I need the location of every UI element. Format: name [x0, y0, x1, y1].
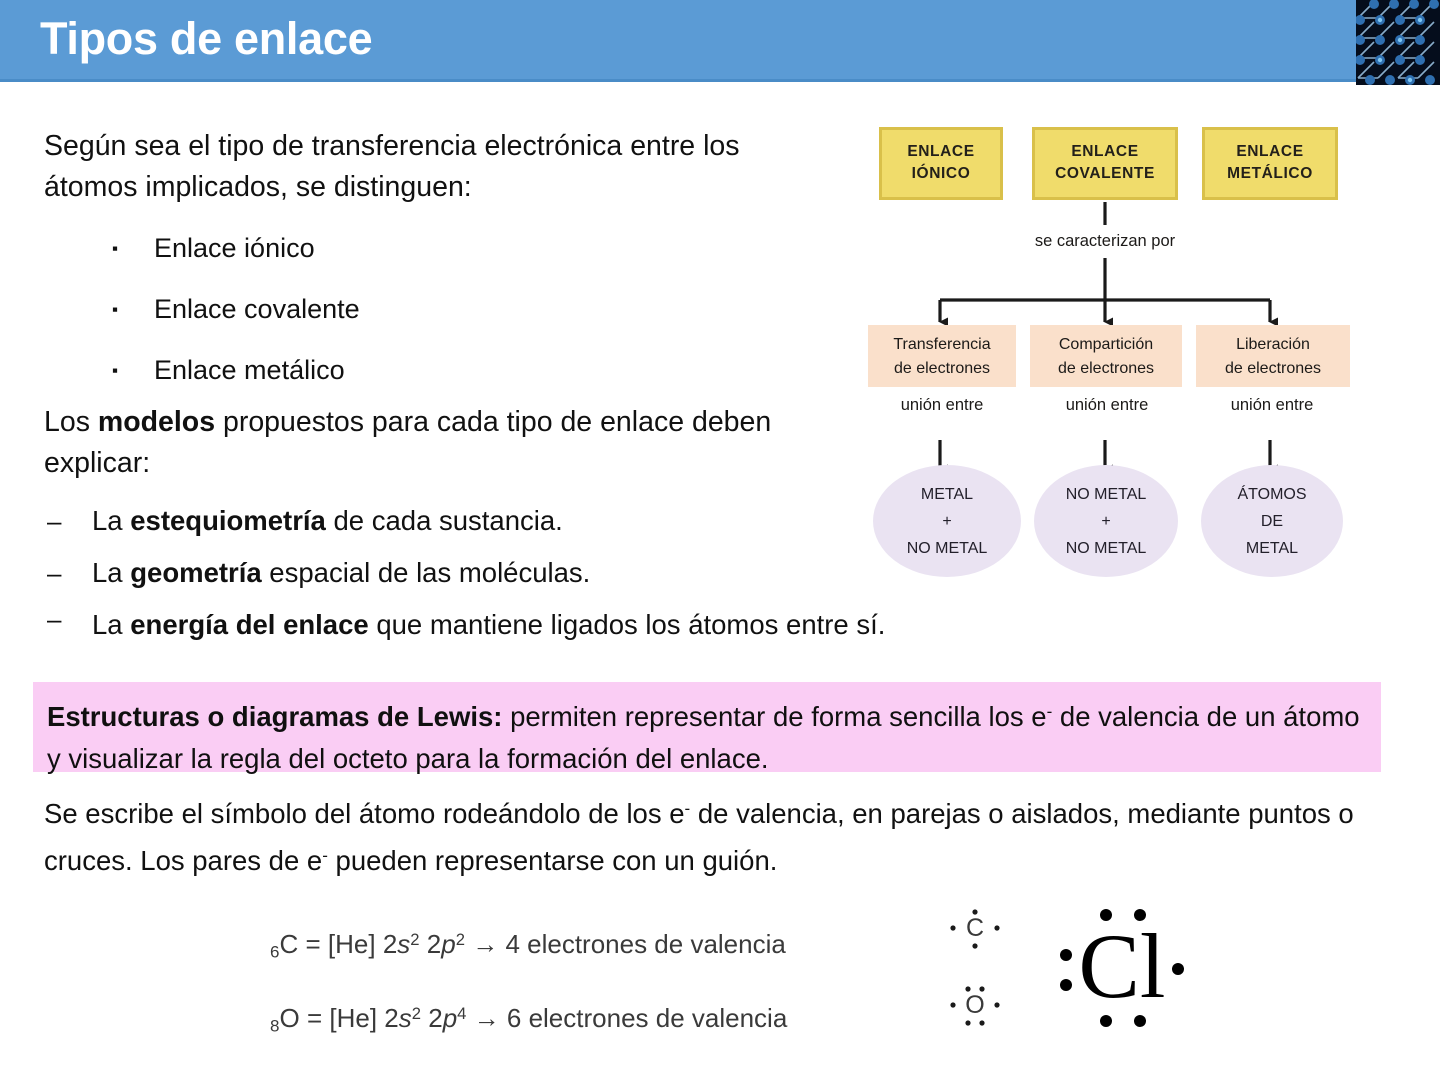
exponent-1: 2 [410, 930, 419, 949]
diagram-peach-comparticion: Compartición de electrones [1030, 325, 1182, 387]
diagram-box-ionic: ENLACE IÓNICO [879, 127, 1003, 200]
peach-line-1: Transferencia [868, 333, 1016, 357]
square-bullet-icon: ▪ [112, 218, 124, 279]
noble-gas-core: [He] [329, 1003, 377, 1033]
element-symbol: C [279, 929, 298, 959]
lewis-notation-paragraph: Se escribe el símbolo del átomo rodeándo… [44, 788, 1384, 882]
exponent-1: 2 [412, 1004, 421, 1023]
connector-label: se caracterizan por [1005, 232, 1205, 251]
list-item-label: Enlace metálico [154, 355, 345, 385]
ellipse-line-2: + [1034, 508, 1178, 535]
list-item: –La energía del enlace que mantiene liga… [44, 599, 1054, 651]
orbital-2: p [443, 1003, 457, 1033]
list-item-bold: energía del enlace [130, 609, 368, 640]
list-item-prefix: La [92, 557, 130, 588]
orbital-1: s [397, 929, 410, 959]
diagram-peach-liberacion: Liberación de electrones [1196, 325, 1350, 387]
list-item-label: Enlace covalente [154, 294, 360, 324]
peach-line-2: de electrones [1196, 357, 1350, 381]
list-item: ▪ Enlace covalente [112, 279, 812, 340]
diagram-ellipse-metal-nometal: METAL + NO METAL [873, 465, 1021, 577]
callout-text: Estructuras o diagramas de Lewis: permit… [47, 691, 1367, 780]
ellipse-line-1: NO METAL [1034, 481, 1178, 508]
lewis-structures-small: C O [930, 900, 1020, 1040]
valence-result: 4 electrones de valencia [505, 929, 785, 959]
box-line-1: ENLACE [1205, 141, 1335, 163]
box-line-1: ENLACE [882, 141, 1000, 163]
list-item: ▪ Enlace iónico [112, 218, 812, 279]
shell-1: 2 [383, 929, 397, 959]
list-item-bold: estequiometría [130, 505, 326, 536]
formula-carbon: 6C = [He] 2s2 2p2 → 4 electrones de vale… [270, 903, 930, 977]
box-line-1: ENLACE [1035, 141, 1175, 163]
post-text-3: pueden representarse con un guión. [328, 845, 778, 876]
diagram-box-covalent: ENLACE COVALENTE [1032, 127, 1178, 200]
models-text-pre: Los [44, 406, 98, 438]
element-symbol: O [279, 1003, 299, 1033]
callout-bold-lead: Estructuras o diagramas de Lewis: [47, 701, 502, 732]
list-item-suffix: que mantiene ligados los átomos entre sí… [369, 609, 886, 640]
arrow-glyph: → [472, 929, 498, 959]
valence-result: 6 electrones de valencia [507, 1003, 787, 1033]
diagram-ellipse-atomos-metal: ÁTOMOS DE METAL [1201, 465, 1343, 577]
list-item: ▪ Enlace metálico [112, 340, 812, 401]
list-item-prefix: La [92, 505, 130, 536]
slide-header: Tipos de enlace [0, 0, 1440, 82]
exponent-2: 4 [457, 1004, 466, 1023]
ellipse-line-1: ÁTOMOS [1201, 481, 1343, 508]
square-bullet-icon: ▪ [112, 279, 124, 340]
union-label-2: unión entre [1040, 396, 1174, 415]
noble-gas-core: [He] [328, 929, 376, 959]
peach-line-1: Liberación [1196, 333, 1350, 357]
box-line-2: IÓNICO [882, 163, 1000, 185]
lead-paragraph: Según sea el tipo de transferencia elect… [44, 126, 834, 208]
lewis-symbol-chlorine: Cl [1079, 915, 1166, 1017]
ellipse-line-3: METAL [1201, 535, 1343, 562]
list-item-label: Enlace iónico [154, 233, 315, 263]
diagram-box-metallic: ENLACE METÁLICO [1202, 127, 1338, 200]
lewis-structure-chlorine: Cl [1040, 893, 1210, 1043]
dash-bullet-icon: – [47, 495, 61, 547]
lewis-definition-callout: Estructuras o diagramas de Lewis: permit… [33, 682, 1381, 772]
ellipse-line-3: NO METAL [873, 535, 1021, 562]
ellipse-line-2: DE [1201, 508, 1343, 535]
diagram-ellipse-nometal-nometal: NO METAL + NO METAL [1034, 465, 1178, 577]
orbital-2: p [441, 929, 455, 959]
list-item-suffix: de cada sustancia. [326, 505, 563, 536]
lewis-symbol-carbon: C [966, 914, 984, 942]
electron-configuration-formulas: 6C = [He] 2s2 2p2 → 4 electrones de vale… [270, 903, 930, 1051]
ellipse-line-3: NO METAL [1034, 535, 1178, 562]
shell-1: 2 [384, 1003, 398, 1033]
crystal-lattice-icon [1356, 0, 1440, 85]
exponent-2: 2 [456, 930, 465, 949]
dash-bullet-icon: – [47, 599, 61, 639]
list-item-bold: geometría [130, 557, 261, 588]
bond-types-list: ▪ Enlace iónico ▪ Enlace covalente ▪ Enl… [112, 218, 812, 401]
lewis-symbol-oxygen: O [965, 991, 984, 1019]
equals-sign: = [305, 929, 320, 959]
union-label-3: unión entre [1205, 396, 1339, 415]
peach-line-1: Compartición [1030, 333, 1182, 357]
peach-line-2: de electrones [1030, 357, 1182, 381]
orbital-1: s [399, 1003, 412, 1033]
models-text-bold: modelos [98, 406, 215, 438]
box-line-2: COVALENTE [1035, 163, 1175, 185]
square-bullet-icon: ▪ [112, 340, 124, 401]
peach-line-2: de electrones [868, 357, 1016, 381]
ellipse-line-1: METAL [873, 481, 1021, 508]
callout-text-1: permiten representar de forma sencilla l… [502, 701, 1046, 732]
list-item-suffix: espacial de las moléculas. [262, 557, 591, 588]
shell-2: 2 [428, 1003, 442, 1033]
equals-sign: = [307, 1003, 322, 1033]
box-line-2: METÁLICO [1205, 163, 1335, 185]
bond-types-flow-diagram: ENLACE IÓNICO ENLACE COVALENTE ENLACE ME… [862, 122, 1362, 582]
post-text-1: Se escribe el símbolo del átomo rodeándo… [44, 798, 685, 829]
page-title: Tipos de enlace [40, 8, 372, 70]
ellipse-line-2: + [873, 508, 1021, 535]
arrow-glyph: → [474, 1003, 500, 1033]
dash-bullet-icon: – [47, 547, 61, 599]
union-label-1: unión entre [875, 396, 1009, 415]
diagram-peach-transferencia: Transferencia de electrones [868, 325, 1016, 387]
shell-2: 2 [427, 929, 441, 959]
list-item-prefix: La [92, 609, 130, 640]
models-paragraph: Los modelos propuestos para cada tipo de… [44, 402, 804, 484]
formula-oxygen: 8O = [He] 2s2 2p4 → 6 electrones de vale… [270, 977, 930, 1051]
